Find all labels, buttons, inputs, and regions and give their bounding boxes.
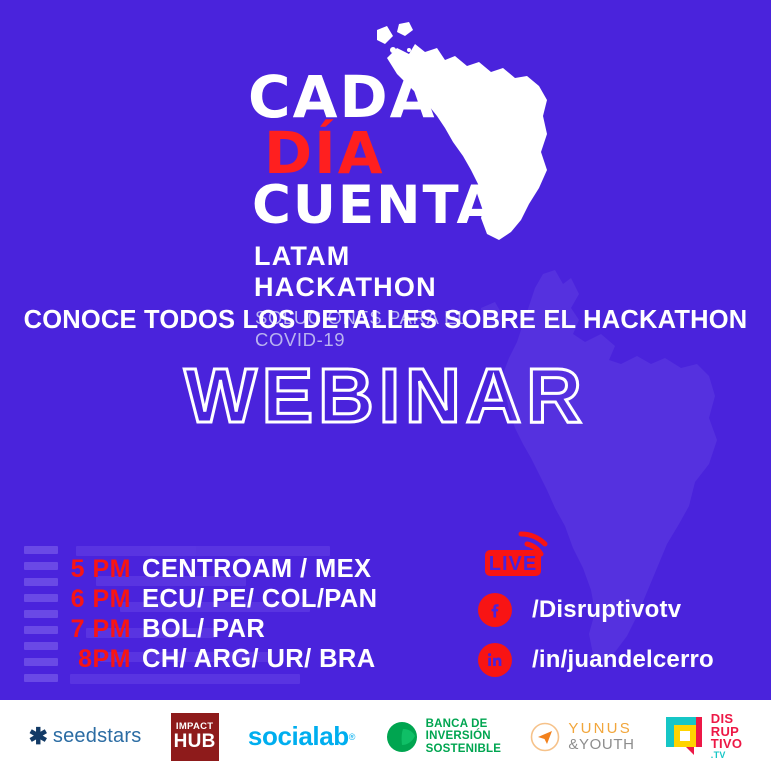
logo-line-cuenta: CUENTA — [252, 181, 538, 232]
logo-block: CADA DÍA CUENTA LATAM HACKATHON SOLUCION… — [0, 18, 771, 278]
schedule-row: 6 PM ECU/ PE/ COL/PAN — [60, 585, 460, 614]
webinar-title: WEBINAR — [0, 352, 771, 441]
social-row-linkedin[interactable]: /in/juandelcerro — [478, 638, 768, 682]
sponsor-line-2: INVERSIÓN — [426, 730, 501, 742]
sponsor-line-3: SOSTENIBLE — [426, 743, 501, 755]
facebook-handle[interactable]: /Disruptivotv — [532, 596, 681, 624]
schedule-zone: CENTROAM / MEX — [142, 555, 371, 584]
registered-mark: ® — [349, 732, 356, 742]
asterisk-icon: ✱ — [29, 725, 48, 748]
schedule-zone: CH/ ARG/ UR/ BRA — [142, 645, 376, 674]
social-row-facebook[interactable]: /Disruptivotv — [478, 588, 768, 632]
sponsor-line-2: HUB — [174, 732, 216, 751]
sponsor-line-1: BANCA DE — [426, 718, 501, 730]
sponsor-footer: ✱ seedstars IMPACT HUB socialab ® BANCA … — [0, 700, 771, 773]
sponsor-wordmark: YUNUS &YOUTH — [568, 721, 634, 753]
poster-canvas: CADA DÍA CUENTA LATAM HACKATHON SOLUCION… — [0, 0, 771, 773]
social-links: /Disruptivotv /in/juandelcerro — [478, 588, 768, 688]
sponsor-line-4: .TV — [711, 751, 743, 760]
sponsor-label: socialab — [248, 721, 349, 752]
schedule-list: 5 PM CENTROAM / MEX 6 PM ECU/ PE/ COL/PA… — [60, 555, 460, 675]
schedule-time: 6 PM — [60, 585, 142, 614]
facebook-icon[interactable] — [478, 593, 512, 627]
schedule-zone: BOL/ PAR — [142, 615, 265, 644]
green-leaf-icon — [385, 720, 419, 754]
logo-line-dia: DÍA — [264, 126, 538, 182]
linkedin-icon[interactable] — [478, 643, 512, 677]
sponsor-label: seedstars — [53, 725, 142, 748]
schedule-zone: ECU/ PE/ COL/PAN — [142, 585, 377, 614]
live-badge: LIVE — [483, 530, 583, 580]
schedule-time: 7 PM — [60, 615, 142, 644]
sponsor-banca-inversion[interactable]: BANCA DE INVERSIÓN SOSTENIBLE — [385, 718, 501, 755]
sponsor-impact-hub[interactable]: IMPACT HUB — [171, 713, 219, 761]
impact-hub-mark: IMPACT HUB — [171, 713, 219, 761]
schedule-time: 8PM — [60, 645, 142, 674]
headline-text: CONOCE TODOS LOS DETALLES SOBRE EL HACKA… — [0, 306, 771, 335]
sponsor-yunus-youth[interactable]: YUNUS &YOUTH — [530, 721, 634, 753]
linkedin-handle[interactable]: /in/juandelcerro — [532, 646, 714, 674]
logo-subtitle: LATAM HACKATHON — [254, 241, 538, 303]
schedule-row: 7 PM BOL/ PAR — [60, 615, 460, 644]
paper-plane-icon — [530, 722, 560, 752]
sponsor-seedstars[interactable]: ✱ seedstars — [29, 725, 142, 748]
sponsor-line-1: YUNUS — [568, 721, 634, 737]
sponsor-wordmark: BANCA DE INVERSIÓN SOSTENIBLE — [426, 718, 501, 755]
schedule-row: 5 PM CENTROAM / MEX — [60, 555, 460, 584]
sponsor-line-2: &YOUTH — [568, 737, 634, 753]
speech-bubble-icon — [664, 715, 704, 757]
schedule-time: 5 PM — [60, 555, 142, 584]
schedule-row: 8PM CH/ ARG/ UR/ BRA — [60, 645, 460, 674]
svg-text:LIVE: LIVE — [489, 553, 537, 575]
live-broadcast-icon: LIVE — [483, 530, 583, 580]
logo-line-cada: CADA — [248, 70, 538, 126]
sponsor-socialab[interactable]: socialab ® — [248, 721, 356, 752]
sponsor-wordmark: DIS RUP TIVO .TV — [711, 713, 743, 760]
sponsor-disruptivo-tv[interactable]: DIS RUP TIVO .TV — [664, 713, 743, 760]
